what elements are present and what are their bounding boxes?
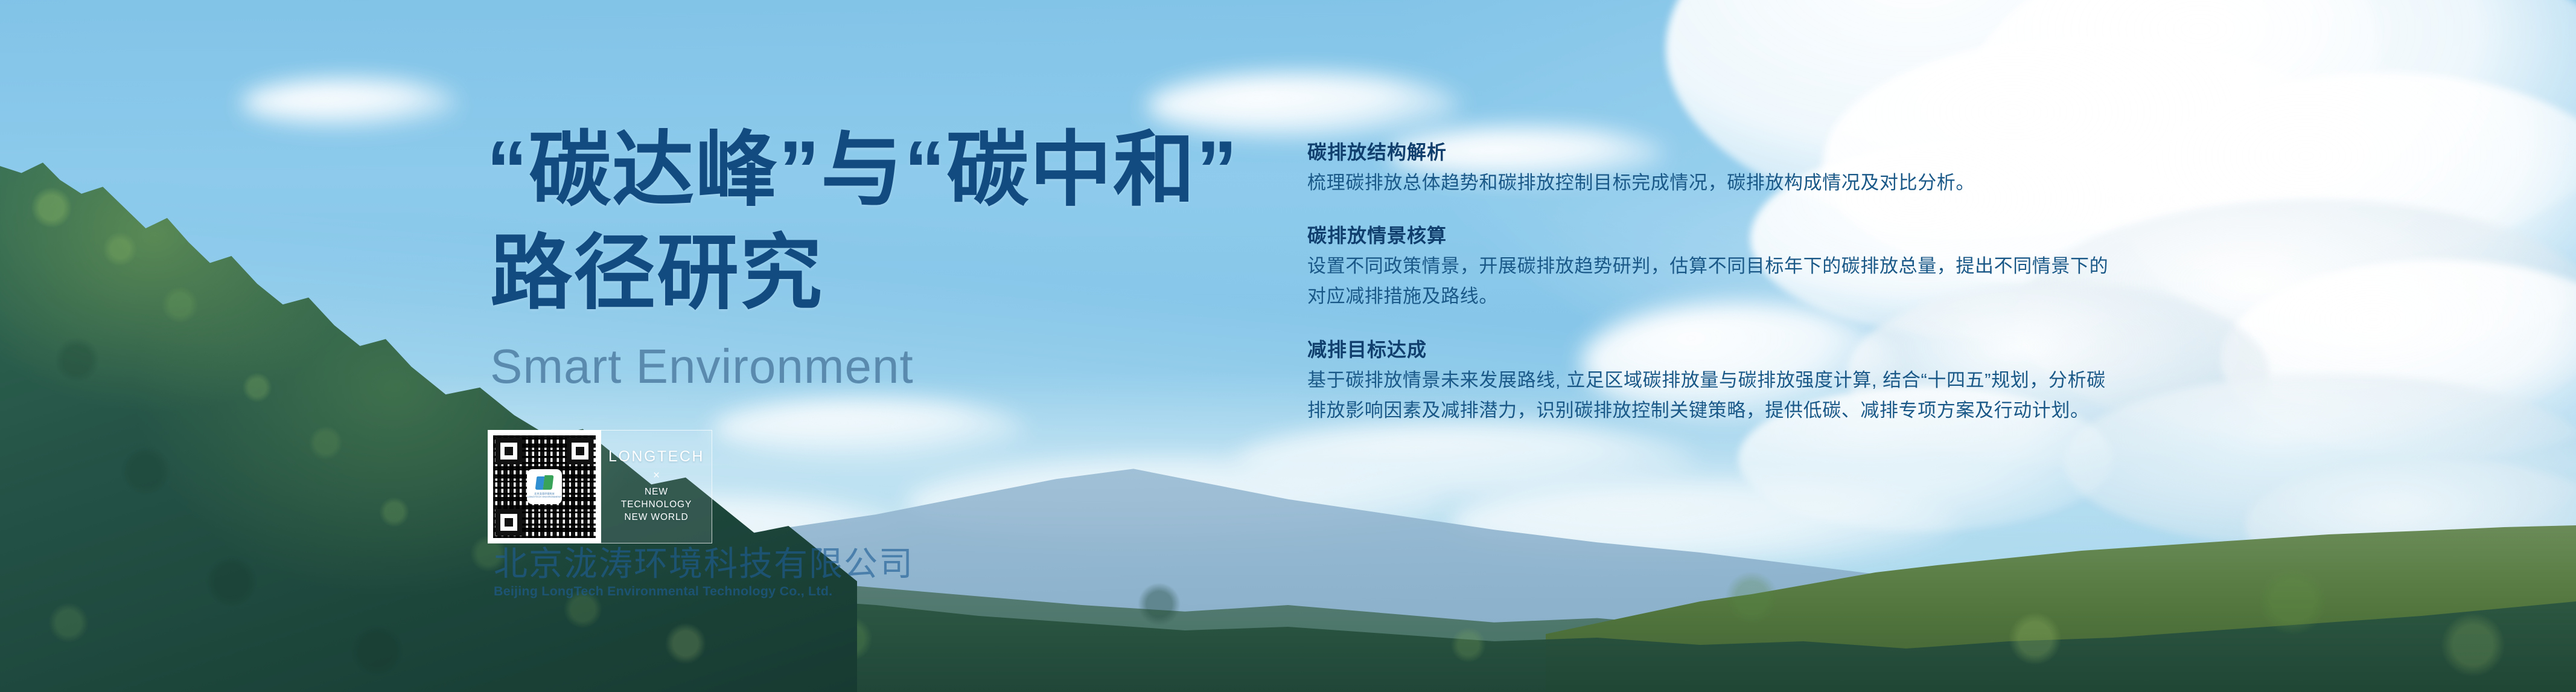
- page-subtitle: Smart Environment: [490, 342, 1271, 391]
- qr-logo-caption: 北京泷涛环境科技LONGTECH ENVIRONMENT: [528, 492, 562, 498]
- feature-list: 碳排放结构解析 梳理碳排放总体趋势和碳排放控制目标完成情况，碳排放构成情况及对比…: [1307, 140, 2110, 426]
- page-title-line-1: “碳达峰”与“碳中和”: [486, 124, 1239, 216]
- page-title-line-2: 路径研究: [486, 222, 1271, 325]
- brand-tagline: NEWTECHNOLOGYNEW WORLD: [621, 486, 692, 524]
- headline-block: “碳达峰”与“碳中和” 路径研究 Smart Environment: [486, 118, 1271, 391]
- qr-finder-top-right: [567, 438, 593, 464]
- sky-upper-gradient: [0, 0, 2576, 318]
- brand-name: LONGTECH: [608, 449, 704, 464]
- page-title: “碳达峰”与“碳中和” 路径研究: [486, 118, 1271, 325]
- qr-code-image[interactable]: 北京泷涛环境科技LONGTECH ENVIRONMENT: [493, 435, 596, 538]
- qr-finder-bottom-left: [496, 509, 522, 536]
- feature-item: 碳排放情景核算 设置不同政策情景，开展碳排放趋势研判，估算不同目标年下的碳排放总…: [1307, 223, 2110, 312]
- brand-tagline-panel: LONGTECH × NEWTECHNOLOGYNEW WORLD: [601, 430, 712, 543]
- feature-description: 设置不同政策情景，开展碳排放趋势研判，估算不同目标年下的碳排放总量，提出不同情景…: [1307, 251, 2110, 312]
- feature-title: 减排目标达成: [1307, 338, 2110, 362]
- carbon-neutrality-banner: “碳达峰”与“碳中和” 路径研究 Smart Environment 北京泷涛环…: [0, 0, 2576, 692]
- feature-title: 碳排放情景核算: [1307, 223, 2110, 248]
- feature-description: 梳理碳排放总体趋势和碳排放控制目标完成情况，碳排放构成情况及对比分析。: [1307, 168, 2110, 198]
- feature-item: 减排目标达成 基于碳排放情景未来发展路线, 立足区域碳排放量与碳排放强度计算, …: [1307, 338, 2110, 426]
- brand-separator-icon: ×: [653, 470, 660, 481]
- feature-item: 碳排放结构解析 梳理碳排放总体趋势和碳排放控制目标完成情况，碳排放构成情况及对比…: [1307, 140, 2110, 198]
- feature-description: 基于碳排放情景未来发展路线, 立足区域碳排放量与碳排放强度计算, 结合“十四五”…: [1307, 365, 2110, 426]
- longtech-logo-icon: [536, 475, 553, 491]
- brand-card: 北京泷涛环境科技LONGTECH ENVIRONMENT LONGTECH × …: [488, 430, 712, 543]
- qr-finder-top-left: [496, 438, 522, 464]
- qr-center-logo: 北京泷涛环境科技LONGTECH ENVIRONMENT: [528, 470, 561, 503]
- qr-code-container[interactable]: 北京泷涛环境科技LONGTECH ENVIRONMENT: [488, 430, 601, 543]
- feature-title: 碳排放结构解析: [1307, 140, 2110, 164]
